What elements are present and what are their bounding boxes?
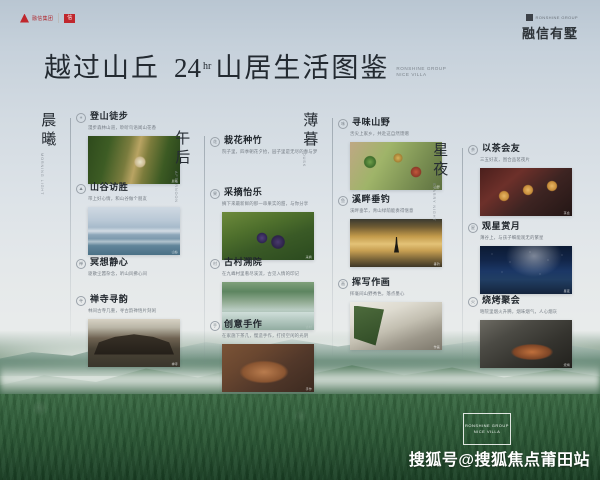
- column-header-1: 晨曦MORNING LIGHT: [38, 112, 60, 195]
- thumbnail-caption: 禅寺: [172, 362, 178, 366]
- title-en-line2: NICE VILLA: [396, 72, 446, 79]
- column-title: 午后: [172, 130, 189, 168]
- activity-head: 画挥写作画: [338, 278, 446, 289]
- activity-head: ☀登山徒步: [76, 112, 184, 123]
- brand-logo-topright-en: RONSHINE GROUP: [536, 15, 579, 20]
- column-rule-1: [70, 118, 71, 336]
- poster-canvas: 融信集团 信 RONSHINE GROUP 融信有墅 越过山丘 24 hr 山居…: [0, 0, 600, 480]
- column-title: 晨曦: [38, 112, 55, 150]
- activity-desc: 驱散尘嚣杂念，听山风拂心间: [88, 271, 184, 277]
- activity-item[interactable]: ⛰山谷访胜带上好心情，和山谷做个朋友山谷: [76, 183, 184, 255]
- activity-icon-glyph: 茶: [471, 148, 475, 152]
- title-tail-text: 山居生活图鉴: [215, 55, 389, 82]
- activity-title: 挥写作画: [352, 278, 390, 288]
- activity-desc: 摘下来最新鲜的那一串果实的甜，与你分享: [222, 201, 318, 207]
- activity-thumbnail[interactable]: 山谷: [88, 207, 180, 255]
- column-subtitle: DUSK: [302, 153, 306, 167]
- title-en-block: RONSHINE GROUP NICE VILLA: [396, 66, 446, 82]
- mountain-icon: ⛰: [76, 184, 86, 194]
- activity-item[interactable]: 星观星赏月薄谷上，与孩子细能观无的繁星星夜: [468, 222, 576, 294]
- column-rule-2: [204, 136, 205, 366]
- activity-desc: 在九峰村里看尽溪流，古见入情的印记: [222, 271, 318, 277]
- flower-icon: 花: [210, 137, 220, 147]
- thumbnail-caption: 作画: [434, 345, 440, 349]
- footer-brand-line2: NICE VILLA: [474, 429, 501, 435]
- page-title: 越过山丘 24 hr 山居生活图鉴 RONSHINE GROUP NICE VI…: [44, 55, 446, 82]
- activity-item[interactable]: 火烧烤聚会晤院里烟火升腾，烟味烟气，人心烟灰烧烤: [468, 296, 576, 368]
- activity-item[interactable]: 禅冥想静心驱散尘嚣杂念，听山风拂心间: [76, 258, 184, 277]
- activity-item[interactable]: 画挥写作画挥毫间山野秀色，落点墨心作画: [338, 278, 446, 350]
- title-number: 24: [174, 55, 201, 82]
- activity-title: 采摘怡乐: [224, 188, 262, 198]
- thumbnail-caption: 手作: [306, 387, 312, 391]
- activity-title: 观星赏月: [482, 222, 520, 232]
- activity-head: ⛰山谷访胜: [76, 183, 184, 194]
- column-subtitle: STARRY NIGHT: [432, 183, 436, 222]
- activity-head: 茶以茶会友: [468, 144, 576, 155]
- temple-icon: 寺: [76, 296, 86, 306]
- activity-desc: 薄谷上，与孩子细能观无的繁星: [480, 235, 576, 241]
- activity-head: 禅冥想静心: [76, 258, 184, 269]
- activity-thumbnail[interactable]: 茶会: [480, 168, 572, 216]
- tea-icon: 茶: [468, 145, 478, 155]
- thumbnail-caption: 烧烤: [564, 363, 570, 367]
- meditation-icon: 禅: [76, 259, 86, 269]
- activity-icon-glyph: 星: [471, 226, 475, 230]
- activity-icon-glyph: 味: [341, 122, 345, 126]
- activity-desc: 带上好心情，和山谷做个朋友: [88, 196, 184, 202]
- activity-desc: 挥毫间山野秀色，落点墨心: [350, 291, 446, 297]
- column-header-4: 星夜STARRY NIGHT: [430, 142, 452, 222]
- brand-logo-topleft: 融信集团 信: [20, 13, 75, 23]
- activity-desc: 晤院里烟火升腾，烟味烟气，人心烟灰: [480, 309, 576, 315]
- brand-logo-topleft-text: 融信集团: [32, 15, 53, 22]
- ronshine-triangle-icon: [20, 14, 29, 23]
- footer-brand-logo: RONSHINE GROUP NICE VILLA: [463, 413, 511, 445]
- activity-desc: 漫步森林山道，聆听鸟语闻山花香: [88, 125, 184, 131]
- activity-title: 禅寺寻韵: [90, 295, 128, 305]
- activity-icon-glyph: 花: [213, 140, 217, 144]
- column-header-2: 午后AFTERNOON: [172, 130, 194, 203]
- brand-square-icon: [526, 14, 533, 21]
- activity-thumbnail[interactable]: 手作: [222, 344, 314, 392]
- activity-thumbnail[interactable]: 作画: [350, 302, 442, 350]
- thumbnail-caption: 茶会: [564, 211, 570, 215]
- activity-icon-glyph: ☀: [79, 116, 83, 120]
- brand-logo-topright: RONSHINE GROUP 融信有墅: [522, 14, 578, 42]
- activity-title: 寻味山野: [352, 118, 390, 128]
- watermark: 搜狐号@搜狐焦点莆田站: [409, 446, 590, 470]
- activity-head: 味寻味山野: [338, 118, 446, 129]
- activity-title: 烧烤聚会: [482, 296, 520, 306]
- activity-icon-glyph: 村: [213, 262, 217, 266]
- activity-thumbnail[interactable]: 采摘: [222, 212, 314, 260]
- brand-logo-topright-cn: 融信有墅: [522, 23, 578, 42]
- activity-icon-glyph: ⛰: [79, 187, 82, 191]
- activity-title: 冥想静心: [90, 258, 128, 268]
- activity-head: 手创意手作: [210, 320, 318, 331]
- brand-logo-topright-sub: RONSHINE GROUP: [522, 14, 578, 21]
- sunrise-icon: ☀: [76, 113, 86, 123]
- village-icon: 村: [210, 259, 220, 269]
- activity-thumbnail[interactable]: 垂钓: [350, 219, 442, 267]
- activity-icon-glyph: 鱼: [341, 199, 345, 203]
- column-header-3: 薄暮DUSK: [300, 112, 322, 167]
- activity-item[interactable]: 茶以茶会友三五好友，围合品茗夜片茶会: [468, 144, 576, 216]
- activity-desc: 三五好友，围合品茗夜片: [480, 157, 576, 163]
- title-unit: hr: [203, 62, 211, 72]
- activity-title: 创意手作: [224, 320, 262, 330]
- activity-title: 古村溯院: [224, 258, 262, 268]
- activity-desc: 舌尖上家乡，共赴这自然馈赠: [350, 131, 446, 137]
- bbq-icon: 火: [468, 297, 478, 307]
- activity-head: 村古村溯院: [210, 258, 318, 269]
- title-main-text: 越过山丘: [44, 55, 160, 82]
- activity-title: 栽花种竹: [224, 136, 262, 146]
- activity-item[interactable]: 寺禅寺寻韵林间古寺几重，寻古韵禅悟片刻闲禅寺: [76, 295, 184, 367]
- food-icon: 味: [338, 119, 348, 129]
- activity-title: 以茶会友: [482, 144, 520, 154]
- handcraft-icon: 手: [210, 321, 220, 331]
- thumbnail-caption: 星夜: [564, 289, 570, 293]
- stamp-text: 信: [67, 16, 72, 21]
- activity-thumbnail[interactable]: 烧烤: [480, 320, 572, 368]
- painting-icon: 画: [338, 279, 348, 289]
- activity-desc: 林间古寺几重，寻古韵禅悟片刻闲: [88, 308, 184, 314]
- title-en-line1: RONSHINE GROUP: [396, 66, 446, 73]
- activity-thumbnail[interactable]: 星夜: [480, 246, 572, 294]
- activity-title: 登山徒步: [90, 112, 128, 122]
- activity-icon-glyph: 寺: [79, 299, 83, 303]
- column-title: 薄暮: [300, 112, 317, 150]
- column-subtitle: AFTERNOON: [174, 171, 178, 203]
- activity-icon-glyph: 禅: [79, 262, 83, 266]
- activity-desc: 在家施下茶几，慢造手作，打捞空闲的光阴: [222, 333, 318, 339]
- activity-title: 山谷访胜: [90, 183, 128, 193]
- stamp-icon: 信: [64, 14, 75, 23]
- column-subtitle: MORNING LIGHT: [40, 153, 44, 195]
- column-title: 星夜: [430, 142, 447, 180]
- activity-thumbnail[interactable]: 禅寺: [88, 319, 180, 367]
- star-icon: 星: [468, 223, 478, 233]
- logo-divider: [58, 13, 59, 23]
- column-rule-3: [332, 118, 333, 356]
- activity-icon-glyph: 画: [341, 282, 345, 286]
- activity-head: 星观星赏月: [468, 222, 576, 233]
- activity-title: 溪畔垂钓: [352, 195, 390, 205]
- activity-head: 果采摘怡乐: [210, 188, 318, 199]
- activity-head: 火烧烤聚会: [468, 296, 576, 307]
- activity-icon-glyph: 果: [213, 192, 217, 196]
- activity-icon-glyph: 火: [471, 300, 475, 304]
- activity-thumbnail[interactable]: 晨曦: [88, 136, 180, 184]
- fishing-icon: 鱼: [338, 196, 348, 206]
- activity-thumbnail[interactable]: 山野: [350, 142, 442, 190]
- column-rule-4: [462, 148, 463, 366]
- activity-item[interactable]: 手创意手作在家施下茶几，慢造手作，打捞空闲的光阴手作: [210, 320, 318, 392]
- activity-item[interactable]: 果采摘怡乐摘下来最新鲜的那一串果实的甜，与你分享采摘: [210, 188, 318, 260]
- thumbnail-caption: 垂钓: [434, 262, 440, 266]
- activity-head: 寺禅寺寻韵: [76, 295, 184, 306]
- harvest-icon: 果: [210, 189, 220, 199]
- thumbnail-caption: 山谷: [172, 250, 178, 254]
- activity-item[interactable]: ☀登山徒步漫步森林山道，聆听鸟语闻山花香晨曦: [76, 112, 184, 184]
- activity-icon-glyph: 手: [213, 324, 217, 328]
